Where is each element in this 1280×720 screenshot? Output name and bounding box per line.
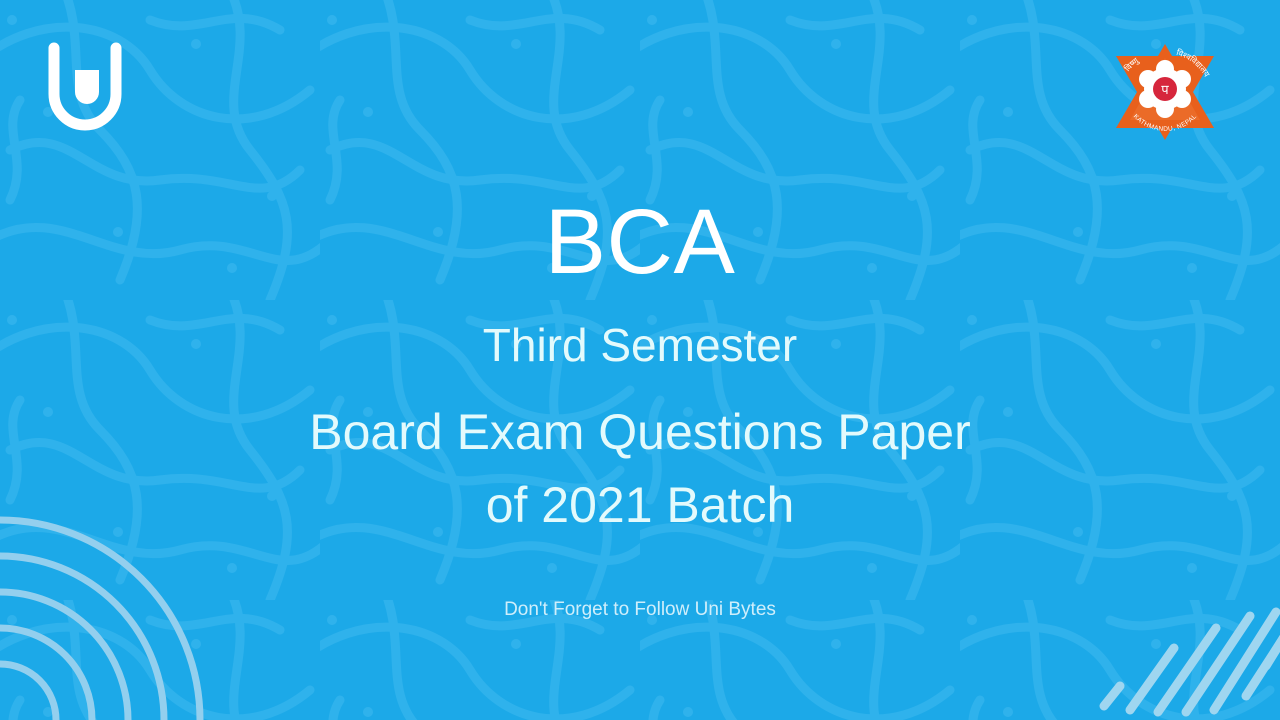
semester-subtitle: Third Semester bbox=[0, 318, 1280, 372]
presentation-slide: विष्णु विश्वविद्यालय प KATHMANDU, NEPAL … bbox=[0, 0, 1280, 720]
slide-content: BCA Third Semester Board Exam Questions … bbox=[0, 0, 1280, 720]
page-title: BCA bbox=[0, 196, 1280, 288]
footer-call-to-action: Don't Forget to Follow Uni Bytes bbox=[0, 599, 1280, 622]
description-line-2: of 2021 Batch bbox=[120, 469, 1160, 542]
description-block: Board Exam Questions Paper of 2021 Batch bbox=[0, 396, 1280, 541]
description-line-1: Board Exam Questions Paper bbox=[120, 396, 1160, 469]
